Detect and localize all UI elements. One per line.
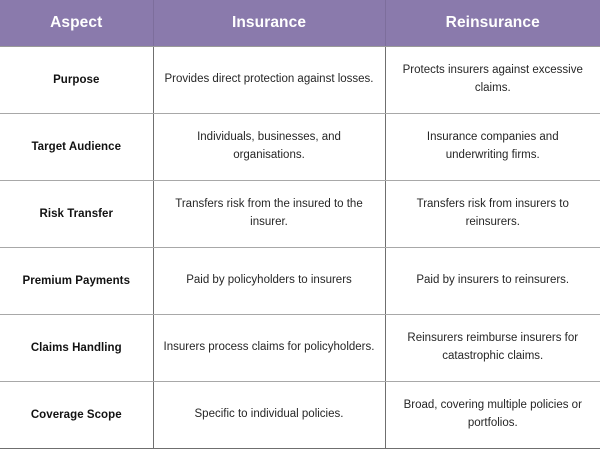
table-row: Claims Handling Insurers process claims … xyxy=(0,314,600,381)
column-header-reinsurance: Reinsurance xyxy=(385,0,600,46)
row-label-purpose: Purpose xyxy=(0,46,153,113)
cell-reinsurance-coverage-scope: Broad, covering multiple policies or por… xyxy=(385,381,600,448)
column-header-aspect: Aspect xyxy=(0,0,153,46)
table-row: Coverage Scope Specific to individual po… xyxy=(0,381,600,448)
cell-insurance-premium-payments: Paid by policyholders to insurers xyxy=(153,247,385,314)
cell-reinsurance-risk-transfer: Transfers risk from insurers to reinsure… xyxy=(385,180,600,247)
table-row: Premium Payments Paid by policyholders t… xyxy=(0,247,600,314)
cell-insurance-coverage-scope: Specific to individual policies. xyxy=(153,381,385,448)
table-header: Aspect Insurance Reinsurance xyxy=(0,0,600,46)
row-label-premium-payments: Premium Payments xyxy=(0,247,153,314)
cell-insurance-claims-handling: Insurers process claims for policyholder… xyxy=(153,314,385,381)
table-row: Purpose Provides direct protection again… xyxy=(0,46,600,113)
cell-reinsurance-purpose: Protects insurers against excessive clai… xyxy=(385,46,600,113)
cell-insurance-risk-transfer: Transfers risk from the insured to the i… xyxy=(153,180,385,247)
comparison-table: Aspect Insurance Reinsurance Purpose Pro… xyxy=(0,0,600,449)
header-row: Aspect Insurance Reinsurance xyxy=(0,0,600,46)
cell-reinsurance-claims-handling: Reinsurers reimburse insurers for catast… xyxy=(385,314,600,381)
table-row: Risk Transfer Transfers risk from the in… xyxy=(0,180,600,247)
cell-reinsurance-target-audience: Insurance companies and underwriting fir… xyxy=(385,113,600,180)
cell-insurance-target-audience: Individuals, businesses, and organisatio… xyxy=(153,113,385,180)
row-label-target-audience: Target Audience xyxy=(0,113,153,180)
cell-reinsurance-premium-payments: Paid by insurers to reinsurers. xyxy=(385,247,600,314)
table-body: Purpose Provides direct protection again… xyxy=(0,46,600,448)
row-label-risk-transfer: Risk Transfer xyxy=(0,180,153,247)
cell-insurance-purpose: Provides direct protection against losse… xyxy=(153,46,385,113)
table-row: Target Audience Individuals, businesses,… xyxy=(0,113,600,180)
row-label-coverage-scope: Coverage Scope xyxy=(0,381,153,448)
column-header-insurance: Insurance xyxy=(153,0,385,46)
row-label-claims-handling: Claims Handling xyxy=(0,314,153,381)
